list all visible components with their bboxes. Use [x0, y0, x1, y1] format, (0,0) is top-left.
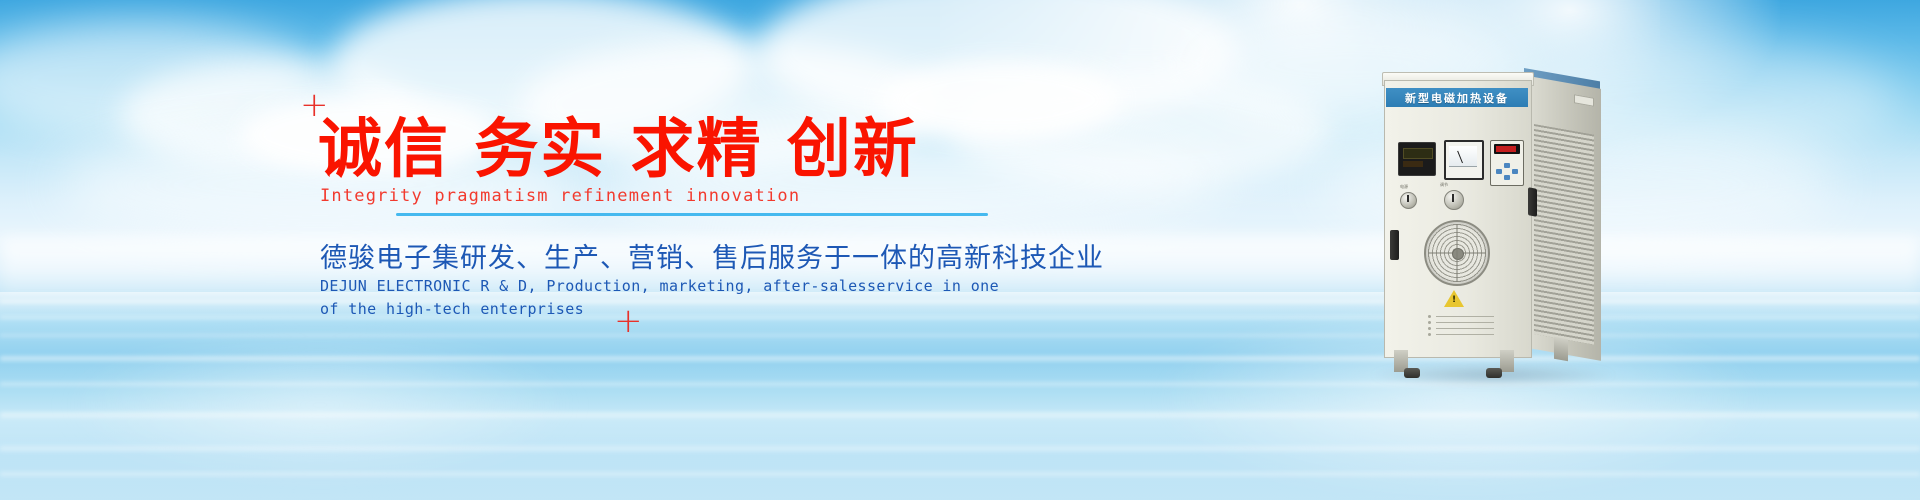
divider-rule [396, 213, 988, 216]
machine-foot [1554, 337, 1568, 361]
spec-sticker [1426, 314, 1498, 342]
subtitle-english-line-1: DEJUN ELECTRONIC R & D, Production, mark… [320, 275, 999, 298]
analog-gauge-icon [1444, 140, 1484, 180]
headline-english: Integrity pragmatism refinement innovati… [320, 186, 800, 206]
digital-readout [1403, 148, 1433, 159]
digital-readout-secondary [1403, 161, 1423, 167]
led-screen [1494, 144, 1520, 154]
knob-right-label: 调节 [1440, 182, 1448, 188]
door-handle [1390, 230, 1399, 260]
control-panel [1398, 140, 1518, 182]
gauge-face [1449, 146, 1477, 167]
hero-banner: + + 诚信 务实 求精 创新 Integrity pragmatism ref… [0, 0, 1920, 500]
knob-left-label: 电源 [1400, 184, 1408, 190]
caster-wheel [1486, 368, 1502, 378]
side-handle [1528, 187, 1537, 217]
adjust-knob [1444, 190, 1464, 210]
warning-triangle-icon [1444, 290, 1464, 307]
digital-controller-icon [1398, 142, 1436, 176]
power-knob [1400, 192, 1417, 209]
subtitle-english-block: DEJUN ELECTRONIC R & D, Production, mark… [320, 275, 999, 321]
led-display-module [1490, 140, 1524, 186]
caster-wheel [1404, 368, 1420, 378]
keypad-icon [1496, 163, 1518, 181]
machine-label-text: 新型电磁加热设备 [1405, 90, 1509, 106]
subtitle-chinese: 德骏电子集研发、生产、营销、售后服务于一体的高新科技企业 [320, 236, 1104, 275]
product-machine-image: 新型电磁加热设备 电源 调节 [1378, 62, 1608, 372]
sea-reflection [60, 330, 580, 480]
machine-foot [1500, 350, 1514, 372]
cooling-fan-icon [1424, 220, 1490, 286]
machine-label-band: 新型电磁加热设备 [1386, 88, 1528, 107]
headline-chinese: 诚信 务实 求精 创新 [318, 118, 919, 182]
ventilation-louvers [1534, 124, 1594, 345]
fan-hub [1452, 248, 1464, 260]
subtitle-english-line-2: of the high-tech enterprises [320, 298, 999, 321]
